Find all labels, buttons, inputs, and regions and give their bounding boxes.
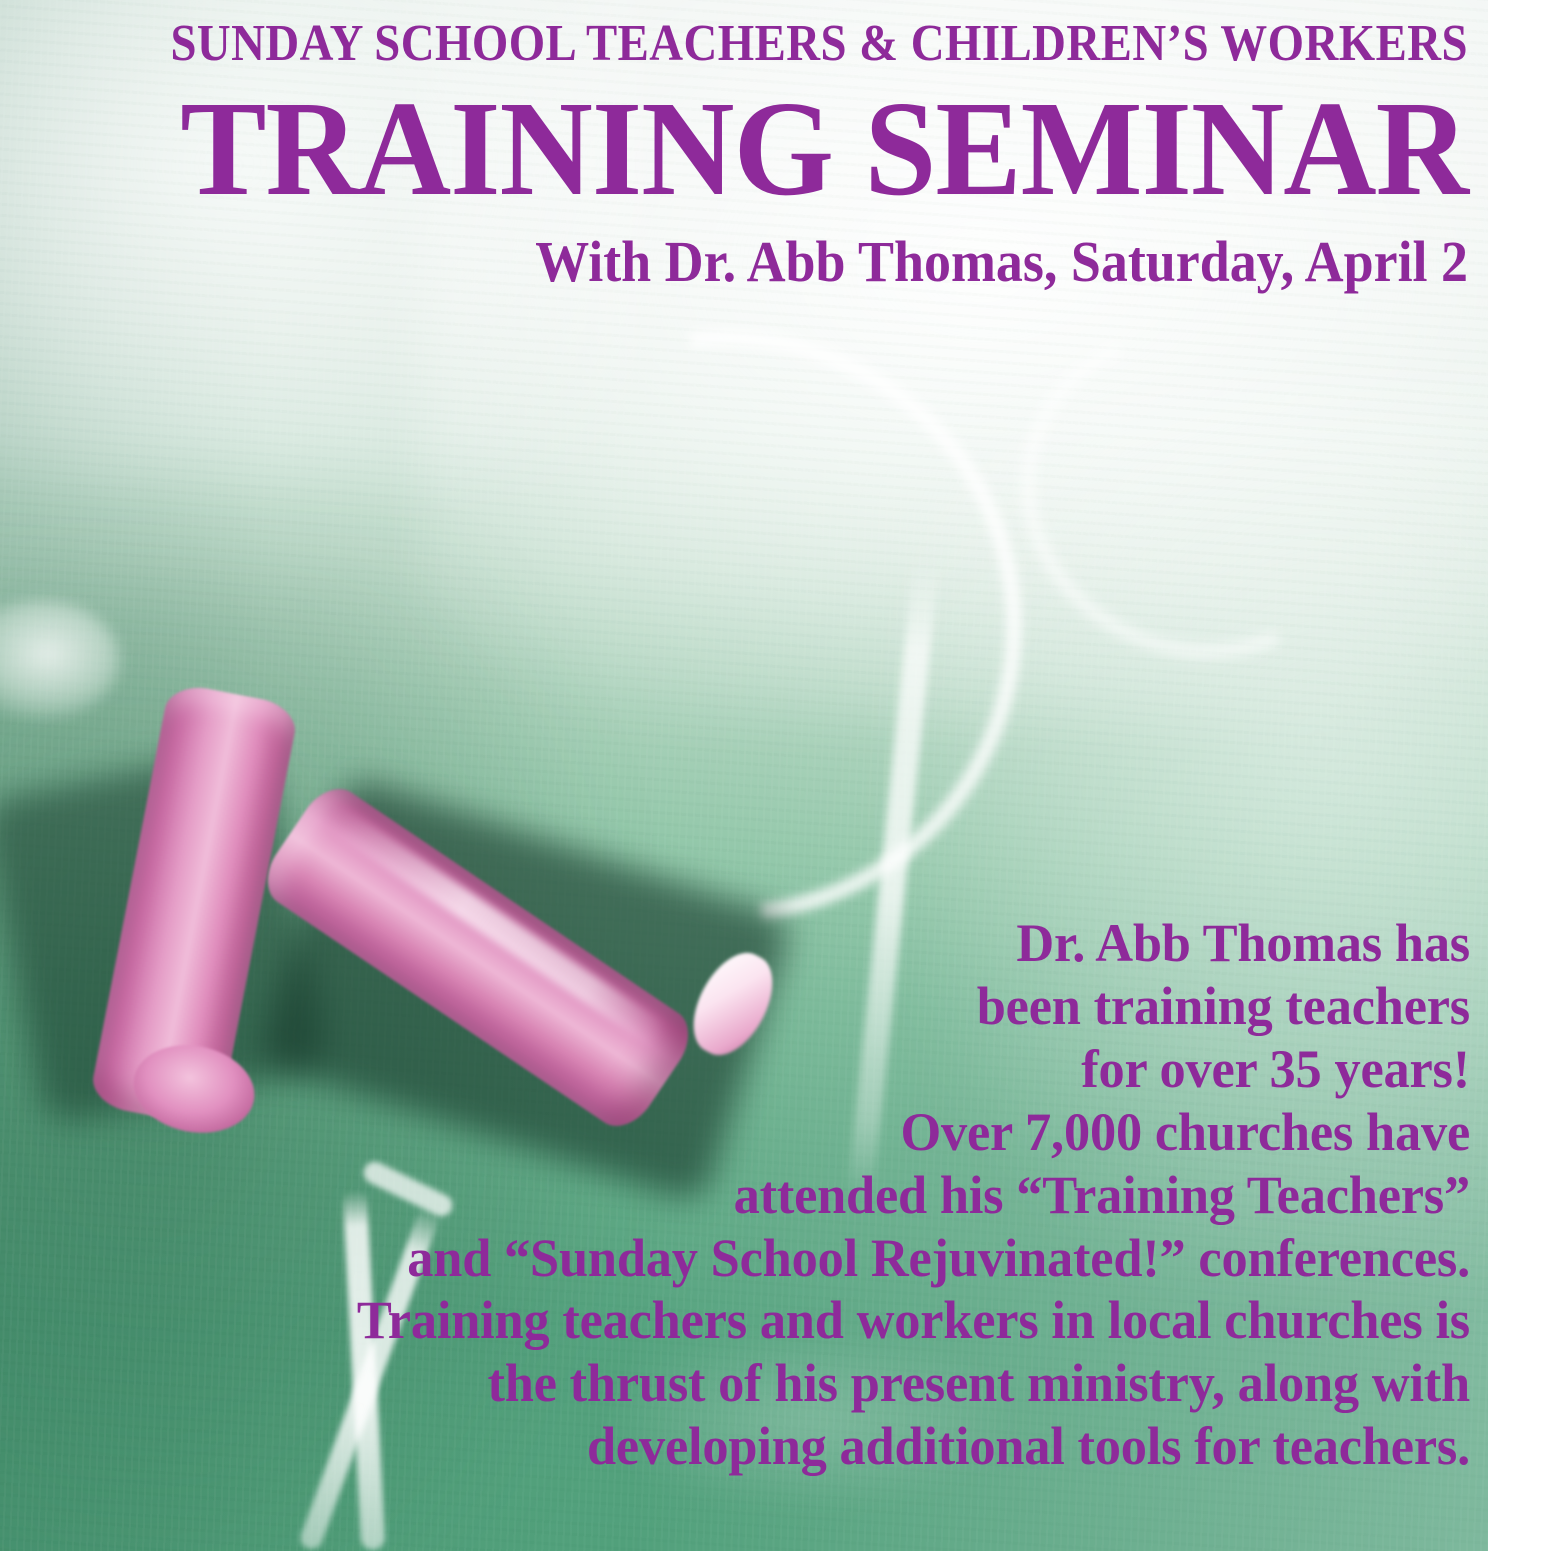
right-white-margin — [1488, 0, 1566, 1551]
body-line: been training teachers — [102, 975, 1470, 1038]
page-title: TRAINING SEMINAR — [73, 84, 1468, 215]
body-line: attended his “Training Teachers” — [102, 1164, 1470, 1227]
body-line: for over 35 years! — [102, 1038, 1470, 1101]
training-seminar-poster: SUNDAY SCHOOL TEACHERS & CHILDREN’S WORK… — [0, 0, 1566, 1551]
body-line: Training teachers and workers in local c… — [102, 1289, 1470, 1352]
body-line: Dr. Abb Thomas has — [102, 912, 1470, 975]
body-line: Over 7,000 churches have — [102, 1101, 1470, 1164]
header-block: SUNDAY SCHOOL TEACHERS & CHILDREN’S WORK… — [0, 0, 1468, 291]
body-line: the thrust of his present ministry, alon… — [102, 1352, 1470, 1415]
subtitle-speaker-date: With Dr. Abb Thomas, Saturday, April 2 — [103, 233, 1468, 291]
kicker-line: SUNDAY SCHOOL TEACHERS & CHILDREN’S WORK… — [147, 18, 1468, 70]
body-line: and “Sunday School Rejuvinated!” confere… — [102, 1227, 1470, 1290]
body-line: developing additional tools for teachers… — [102, 1415, 1470, 1478]
body-paragraph: Dr. Abb Thomas has been training teacher… — [60, 912, 1470, 1478]
